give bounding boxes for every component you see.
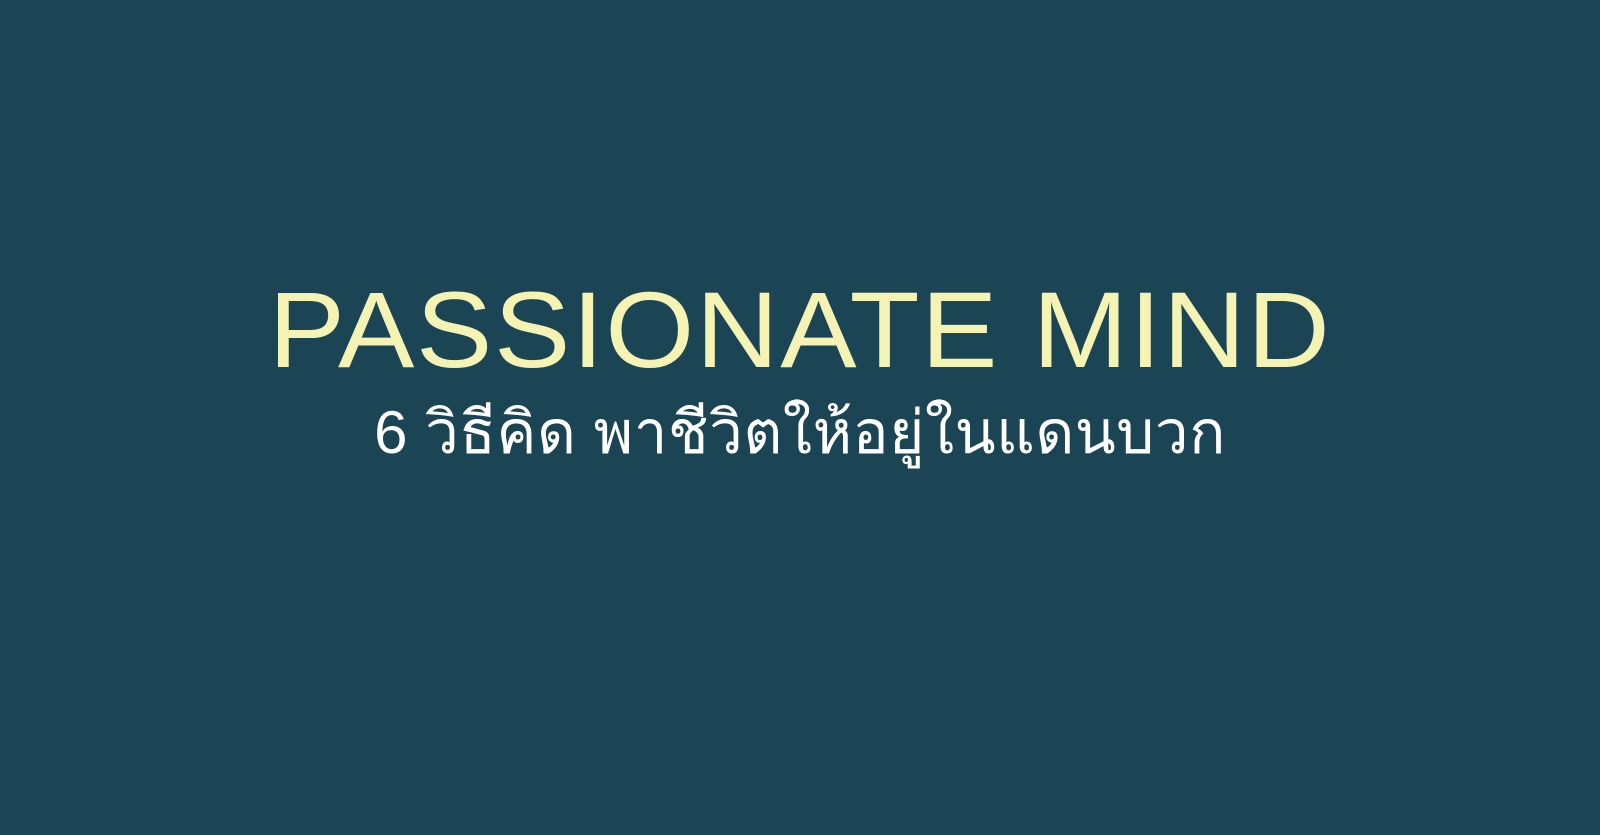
page-title: PASSIONATE MIND bbox=[0, 276, 1600, 384]
title-card-canvas: PASSIONATE MIND 6 วิธีคิด พาชีวิตให้อยู่… bbox=[0, 0, 1600, 835]
page-subtitle: 6 วิธีคิด พาชีวิตให้อยู่ในแดนบวก bbox=[0, 398, 1600, 467]
title-block: PASSIONATE MIND 6 วิธีคิด พาชีวิตให้อยู่… bbox=[0, 0, 1600, 467]
